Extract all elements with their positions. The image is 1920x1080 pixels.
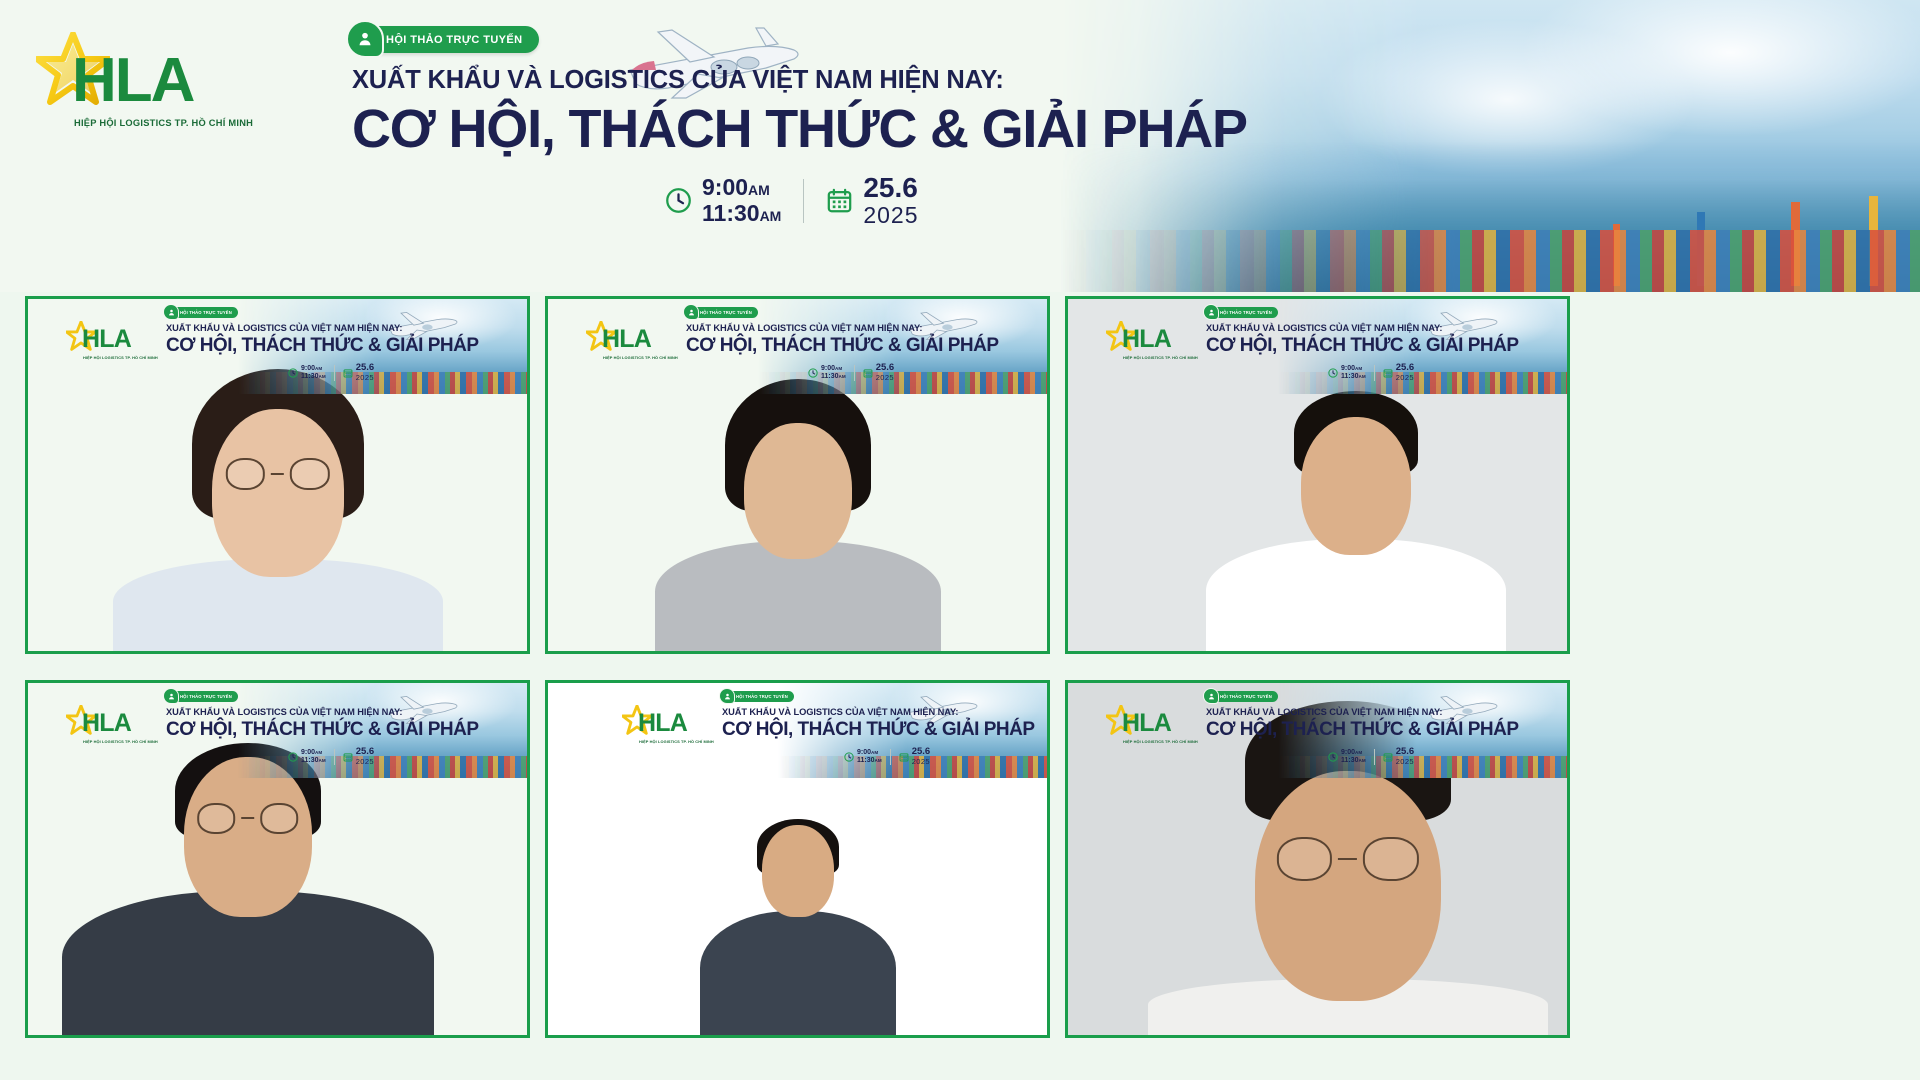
video-conference-grid: HLA HIỆP HỘI LOGISTICS TP. HỒ CHÍ MINH H… — [25, 296, 1895, 1042]
participant-face — [1301, 417, 1411, 555]
hla-tagline: HIỆP HỘI LOGISTICS TP. HỒ CHÍ MINH — [74, 118, 260, 128]
meta-divider — [803, 179, 804, 223]
webinar-badge: HỘI THẢO TRỰC TUYẾN — [352, 26, 539, 53]
time-start-ampm: AM — [748, 182, 770, 198]
participant-tile-5[interactable]: HLA HIỆP HỘI LOGISTICS TP. HỒ CHÍ MINH H… — [545, 680, 1050, 1038]
eyeglasses-icon — [1276, 837, 1418, 882]
event-meta: 9:00AM 11:30AM 25.6 2025 — [665, 172, 919, 229]
time-start: 9:00 — [702, 174, 748, 200]
eyeglasses-icon — [225, 458, 329, 490]
event-title: CƠ HỘI, THÁCH THỨC & GIẢI PHÁP — [352, 100, 1247, 159]
hla-wordmark: HLA — [72, 50, 193, 112]
participant-video-feed — [1068, 683, 1567, 1035]
event-subtitle: XUẤT KHẨU VÀ LOGISTICS CỦA VIỆT NAM HIỆN… — [352, 66, 1004, 95]
participant-tile-1[interactable]: HLA HIỆP HỘI LOGISTICS TP. HỒ CHÍ MINH H… — [25, 296, 530, 654]
participant-clothing — [1206, 539, 1506, 651]
participant-face — [744, 423, 852, 559]
participant-video-feed — [28, 683, 527, 1035]
webinar-speaker-icon — [346, 20, 384, 58]
eyeglasses-icon — [197, 803, 299, 834]
date-day-month: 25.6 — [863, 172, 918, 203]
date-year: 2025 — [863, 203, 918, 229]
airplane-icon — [598, 18, 818, 110]
calendar-icon — [826, 187, 853, 214]
time-end: 11:30 — [702, 200, 760, 226]
time-end-ampm: AM — [760, 208, 782, 224]
event-date: 25.6 2025 — [826, 172, 918, 229]
event-time: 9:00AM 11:30AM — [665, 175, 781, 227]
clock-icon — [665, 187, 692, 214]
participant-clothing — [700, 911, 896, 1035]
participant-video-feed — [548, 683, 1047, 1035]
participant-face — [762, 825, 834, 917]
participant-face — [212, 409, 344, 577]
participant-face — [1255, 771, 1441, 1001]
shipping-containers-image — [1060, 230, 1920, 292]
participant-tile-3[interactable]: HLA HIỆP HỘI LOGISTICS TP. HỒ CHÍ MINH H… — [1065, 296, 1570, 654]
webinar-header-banner: HLA HIỆP HỘI LOGISTICS TP. HỒ CHÍ MINH H… — [0, 0, 1920, 292]
participant-video-feed — [548, 299, 1047, 651]
participant-tile-2[interactable]: HLA HIỆP HỘI LOGISTICS TP. HỒ CHÍ MINH H… — [545, 296, 1050, 654]
hla-logo: HLA HIỆP HỘI LOGISTICS TP. HỒ CHÍ MINH — [34, 22, 234, 152]
participant-video-feed — [1068, 299, 1567, 651]
webinar-badge-label: HỘI THẢO TRỰC TUYẾN — [386, 34, 523, 46]
participant-video-feed — [28, 299, 527, 651]
participant-tile-6[interactable]: HLA HIỆP HỘI LOGISTICS TP. HỒ CHÍ MINH H… — [1065, 680, 1570, 1038]
participant-face — [184, 757, 312, 917]
participant-tile-4[interactable]: HLA HIỆP HỘI LOGISTICS TP. HỒ CHÍ MINH H… — [25, 680, 530, 1038]
